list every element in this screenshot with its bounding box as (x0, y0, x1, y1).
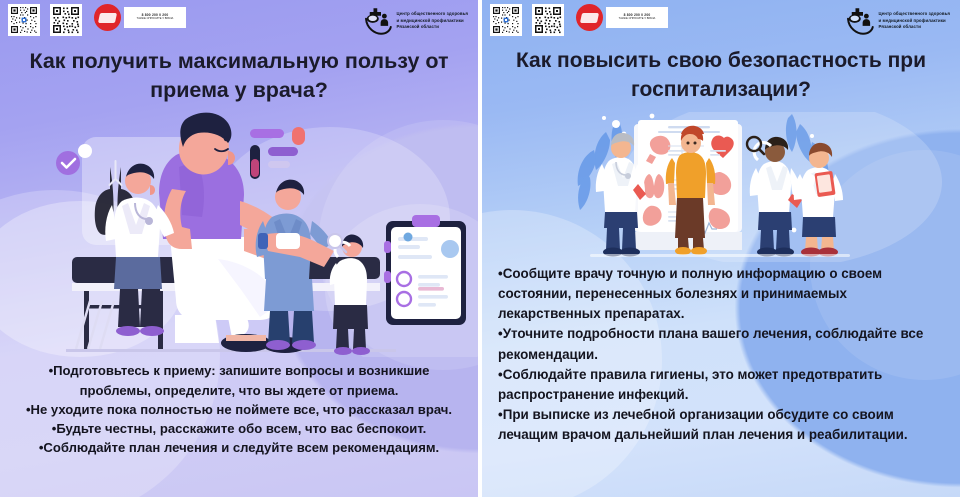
qr-code-site-icon[interactable] (50, 4, 82, 36)
qr-code-vk-icon[interactable] (490, 4, 522, 36)
org-logo-right: Центр общественного здоровья и медицинск… (845, 4, 955, 36)
org-line-1: Центр общественного здоровья (397, 12, 469, 17)
org-line-3: Рязанской области (879, 25, 951, 30)
hotline-info: 8 800 200 0 200 ТАКЖЕ СПРОСИТЕ У ВРАЧА (124, 7, 186, 28)
poster-title-right: Как повысить свою безопастность при госп… (482, 47, 960, 104)
hotline-site: ТАКЖЕ СПРОСИТЕ У ВРАЧА (127, 18, 183, 21)
qr-code-vk-icon[interactable] (8, 4, 40, 36)
bullet-item: •Соблюдайте правила гигиены, это может п… (498, 365, 946, 405)
hotline-info: 8 800 200 0 200 ТАКЖЕ СПРОСИТЕ У ВРАЧА (606, 7, 668, 28)
bullet-item: •Не уходите пока полностью не поймете вс… (14, 400, 464, 419)
bullet-item: •Сообщите врачу точную и полную информац… (498, 264, 946, 324)
org-logo-text: Центр общественного здоровья и медицинск… (879, 12, 951, 31)
poster-panel-left: 8 800 200 0 200 ТАКЖЕ СПРОСИТЕ У ВРАЧА (0, 0, 478, 497)
qr-code-site-icon[interactable] (532, 4, 564, 36)
org-logo-text: Центр общественного здоровья и медицинск… (397, 12, 469, 31)
hotline-seal-icon (576, 4, 603, 31)
panel-header-right: 8 800 200 0 200 ТАКЖЕ СПРОСИТЕ У ВРАЧА (482, 0, 960, 40)
poster-body-right: •Сообщите врачу точную и полную информац… (482, 264, 960, 445)
bullet-item: •Подготовьтесь к приему: запишите вопрос… (14, 361, 464, 399)
bullet-item: •Соблюдайте план лечения и следуйте всем… (14, 438, 464, 457)
poster-pair: 8 800 200 0 200 ТАКЖЕ СПРОСИТЕ У ВРАЧА (0, 0, 960, 497)
poster-panel-right: 8 800 200 0 200 ТАКЖЕ СПРОСИТЕ У ВРАЧА (482, 0, 960, 497)
bullet-item: •Будьте честны, расскажите обо всем, что… (14, 419, 464, 438)
health-center-logo-icon (363, 6, 393, 36)
qr-code-group: 8 800 200 0 200 ТАКЖЕ СПРОСИТЕ У ВРАЧА (8, 4, 186, 36)
poster-body-left: •Подготовьтесь к приему: запишите вопрос… (0, 361, 478, 457)
bullet-item: •Уточните подробности плана вашего лечен… (498, 324, 946, 364)
hotline-site: ТАКЖЕ СПРОСИТЕ У ВРАЧА (609, 18, 665, 21)
medical-team-anatomy-board-illustration (482, 112, 960, 262)
qr-code-group: 8 800 200 0 200 ТАКЖЕ СПРОСИТЕ У ВРАЧА (490, 4, 668, 36)
poster-title-left: Как получить максимальную пользу от прие… (0, 47, 478, 105)
org-line-3: Рязанской области (397, 25, 469, 30)
health-center-logo-icon (845, 6, 875, 36)
hotline-badge-group[interactable]: 8 800 200 0 200 ТАКЖЕ СПРОСИТЕ У ВРАЧА (576, 4, 668, 31)
org-line-2: и медицинской профилактики (397, 19, 469, 24)
hotline-seal-icon (94, 4, 121, 31)
org-line-2: и медицинской профилактики (879, 19, 951, 24)
hotline-badge-group[interactable]: 8 800 200 0 200 ТАКЖЕ СПРОСИТЕ У ВРАЧА (94, 4, 186, 31)
org-logo-left: Центр общественного здоровья и медицинск… (363, 4, 473, 36)
bullet-item: •При выписке из лечебной организации обс… (498, 405, 946, 445)
org-line-1: Центр общественного здоровья (879, 12, 951, 17)
panel-header-left: 8 800 200 0 200 ТАКЖЕ СПРОСИТЕ У ВРАЧА (0, 0, 478, 40)
doctor-appointment-illustration (0, 109, 478, 357)
